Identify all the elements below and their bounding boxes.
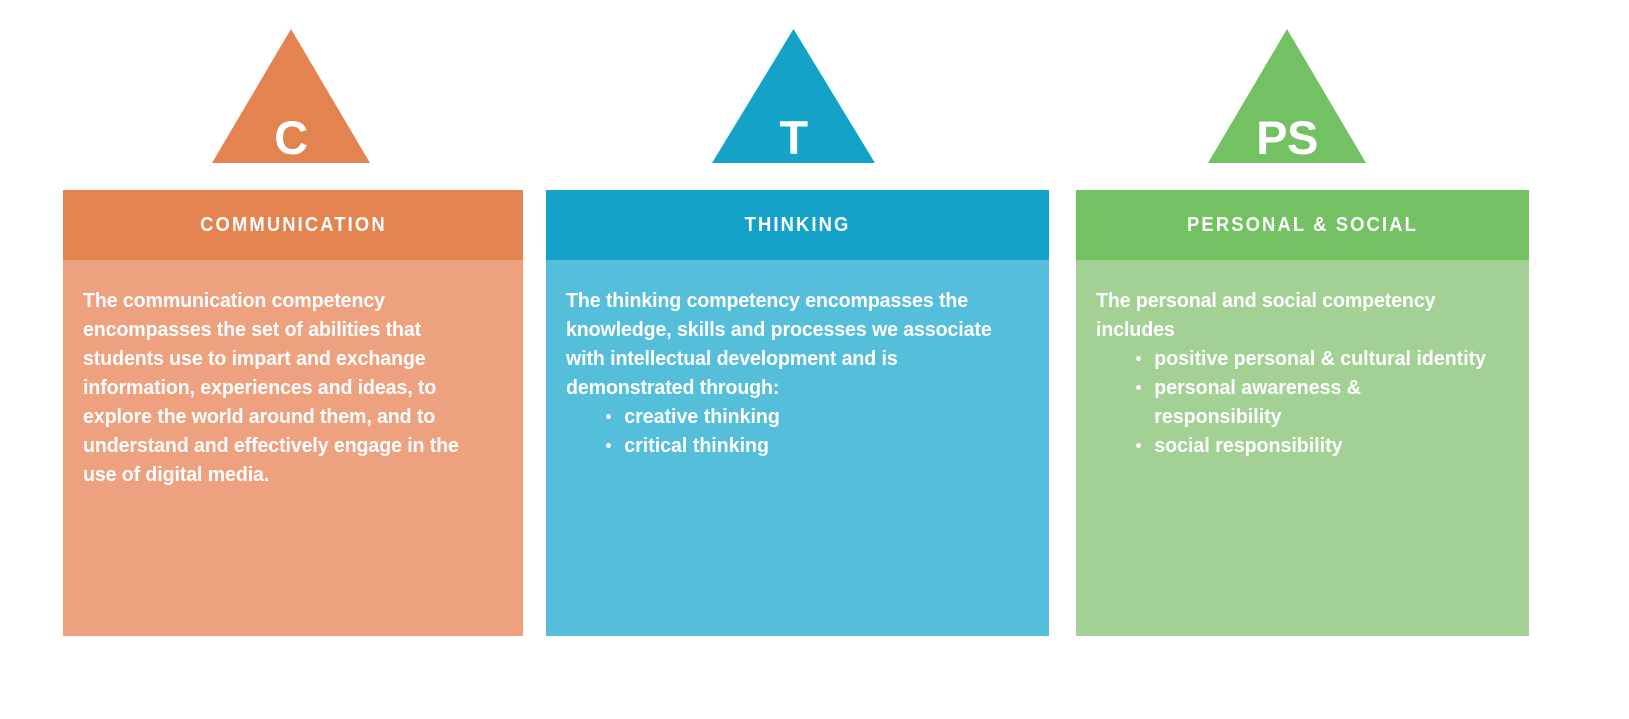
thinking-header-label: THINKING bbox=[745, 214, 851, 237]
communication-paragraph: The communication competency encompasses… bbox=[83, 286, 484, 489]
personal-social-triangle-badge: PS bbox=[1208, 29, 1366, 165]
personal-social-bullet-list: positive personal & cultural identityper… bbox=[1096, 344, 1490, 460]
thinking-body-panel: The thinking competency encompasses the … bbox=[546, 260, 1049, 636]
list-item: personal awareness & responsibility bbox=[1132, 373, 1490, 431]
communication-header-bar: COMMUNICATION bbox=[63, 190, 523, 260]
competencies-infographic: C COMMUNICATION The communication compet… bbox=[0, 0, 1629, 719]
personal-social-badge-letter: PS bbox=[1208, 114, 1366, 161]
personal-social-header-label: PERSONAL & SOCIAL bbox=[1187, 214, 1418, 237]
personal-social-body-panel: The personal and social competency inclu… bbox=[1076, 260, 1529, 636]
personal-social-paragraph: The personal and social competency inclu… bbox=[1096, 286, 1490, 344]
communication-header-label: COMMUNICATION bbox=[200, 214, 387, 237]
thinking-triangle-badge: T bbox=[712, 29, 875, 165]
list-item: social responsibility bbox=[1132, 431, 1490, 460]
thinking-paragraph: The thinking competency encompasses the … bbox=[566, 286, 1008, 402]
personal-social-header-bar: PERSONAL & SOCIAL bbox=[1076, 190, 1529, 260]
thinking-bullet-list: creative thinkingcritical thinking bbox=[566, 402, 1008, 460]
communication-triangle-badge: C bbox=[212, 29, 370, 165]
list-item: critical thinking bbox=[602, 431, 1008, 460]
thinking-badge-letter: T bbox=[712, 114, 875, 161]
communication-badge-letter: C bbox=[212, 114, 370, 161]
list-item: creative thinking bbox=[602, 402, 1008, 431]
thinking-header-bar: THINKING bbox=[546, 190, 1049, 260]
communication-body-panel: The communication competency encompasses… bbox=[63, 260, 523, 636]
list-item: positive personal & cultural identity bbox=[1132, 344, 1490, 373]
